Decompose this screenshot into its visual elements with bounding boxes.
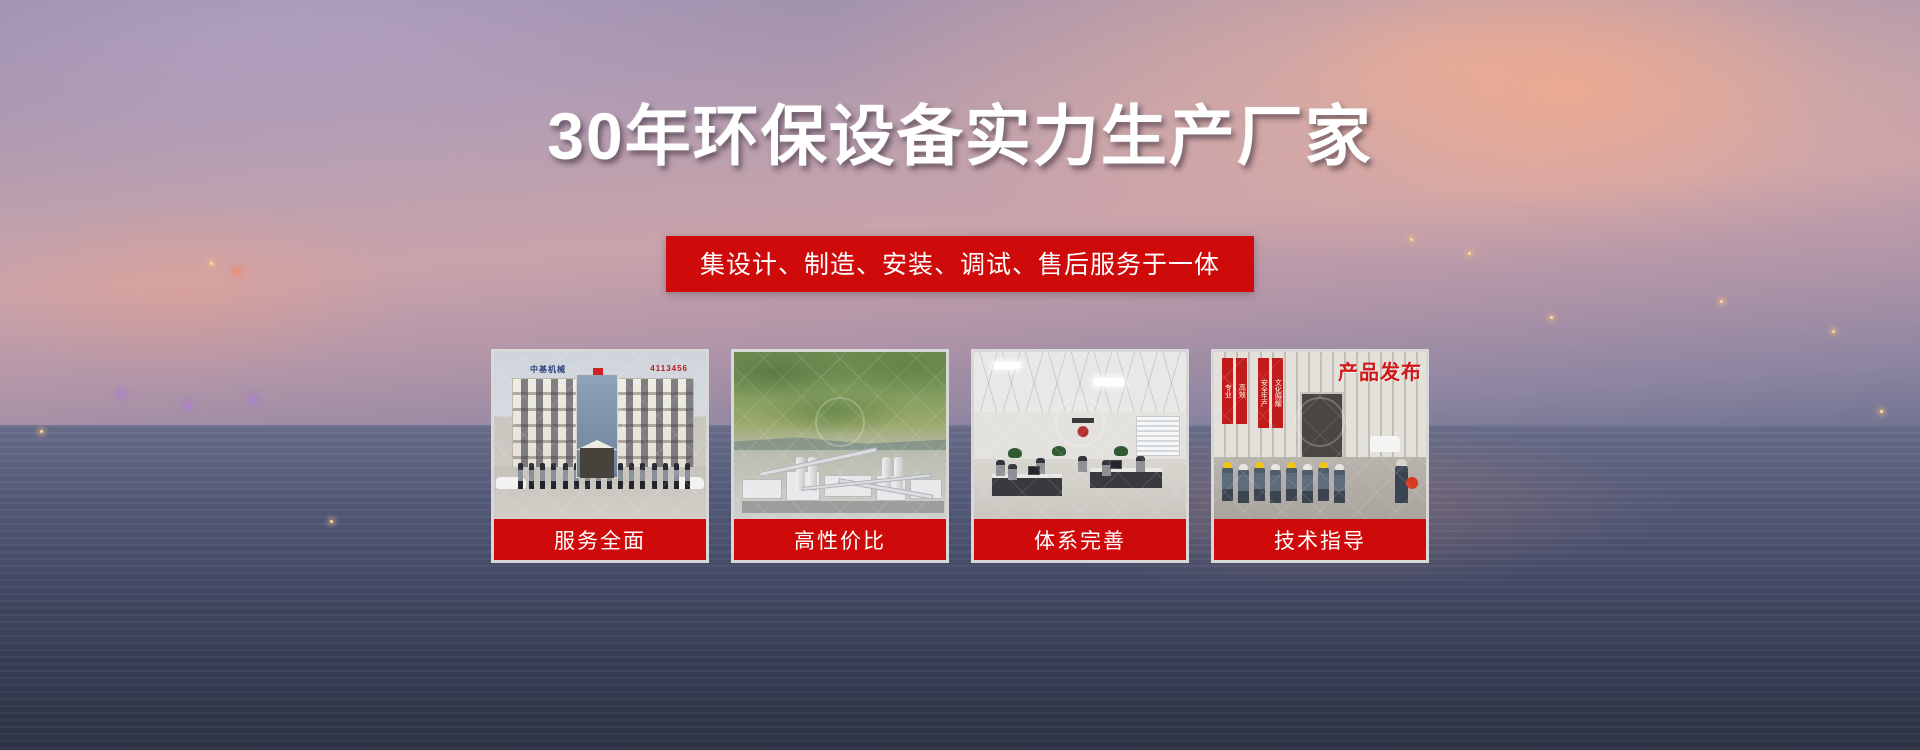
hero-banner: 30年环保设备实力生产厂家 集设计、制造、安装、调试、售后服务于一体 中基机械 … [0, 0, 1920, 750]
feature-card-label: 服务全面 [491, 519, 709, 563]
building-sign-text: 中基机械 [530, 364, 566, 375]
office-interior-image [971, 349, 1189, 519]
feature-card[interactable]: 中基机械 4113456 服务全面 [491, 349, 709, 563]
company-office-building-image: 中基机械 4113456 [491, 349, 709, 519]
feature-card[interactable]: 产品发布 专业 高效 安全生产 文化照耀 [1211, 349, 1429, 563]
feature-card[interactable]: 高性价比 [731, 349, 949, 563]
feature-card-label: 高性价比 [731, 519, 949, 563]
watermark-overlay [974, 352, 1186, 519]
hero-content: 30年环保设备实力生产厂家 集设计、制造、安装、调试、售后服务于一体 中基机械 … [0, 0, 1920, 750]
factory-workers-image: 产品发布 专业 高效 安全生产 文化照耀 [1211, 349, 1429, 519]
watermark-overlay [1214, 352, 1426, 519]
watermark-overlay [734, 352, 946, 519]
feature-card-list: 中基机械 4113456 服务全面 [491, 349, 1429, 563]
feature-card-label: 技术指导 [1211, 519, 1429, 563]
feature-card[interactable]: 体系完善 [971, 349, 1189, 563]
aerial-plant-image [731, 349, 949, 519]
page-title: 30年环保设备实力生产厂家 [0, 103, 1920, 169]
feature-card-label: 体系完善 [971, 519, 1189, 563]
flag-icon [593, 368, 603, 375]
building-phone-text: 4113456 [650, 364, 688, 373]
subtitle-banner: 集设计、制造、安装、调试、售后服务于一体 [666, 236, 1254, 292]
